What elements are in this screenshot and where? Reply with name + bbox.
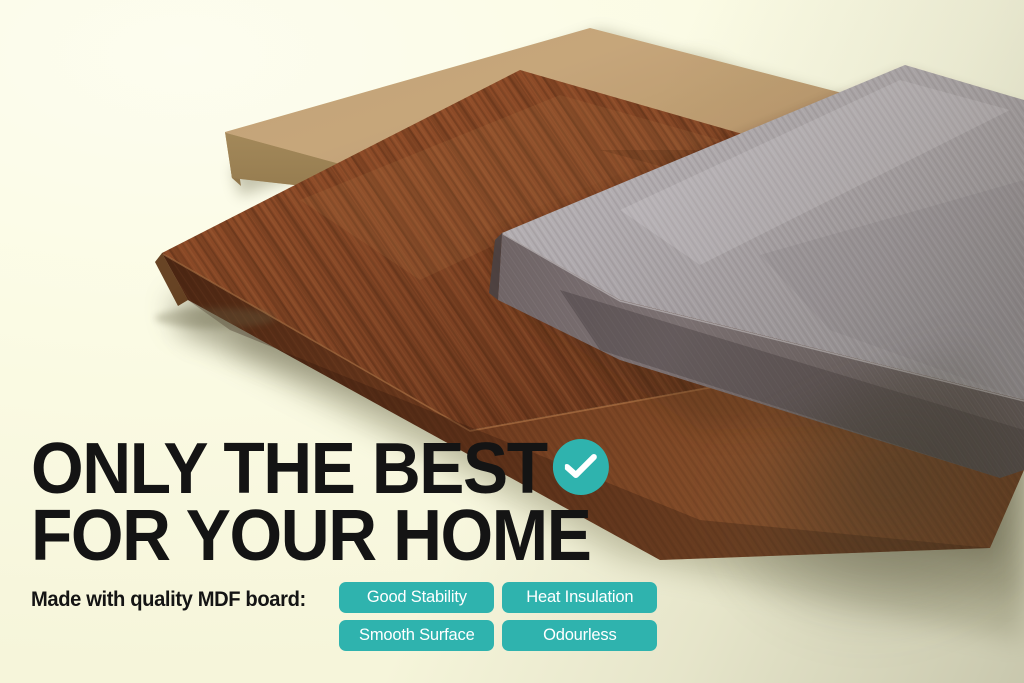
subheading-label: Made with quality MDF board: <box>31 582 306 612</box>
headline-line-2: FOR YOUR HOME <box>31 503 689 570</box>
subheading-row: Made with quality MDF board: Good Stabil… <box>31 582 731 651</box>
headline: ONLY THE BEST FOR YOUR HOME <box>31 436 689 570</box>
feature-badge-grid: Good Stability Heat Insulation Smooth Su… <box>339 582 657 651</box>
headline-line-1-row: ONLY THE BEST <box>31 436 689 503</box>
check-circle-icon <box>553 439 609 495</box>
feature-badge[interactable]: Odourless <box>502 620 657 651</box>
promo-copy: ONLY THE BEST FOR YOUR HOME Made with qu… <box>31 436 731 651</box>
feature-badge[interactable]: Good Stability <box>339 582 494 613</box>
check-icon-glyph <box>565 454 597 480</box>
feature-badge[interactable]: Heat Insulation <box>502 582 657 613</box>
promo-banner: ONLY THE BEST FOR YOUR HOME Made with qu… <box>0 0 1024 683</box>
feature-badge[interactable]: Smooth Surface <box>339 620 494 651</box>
